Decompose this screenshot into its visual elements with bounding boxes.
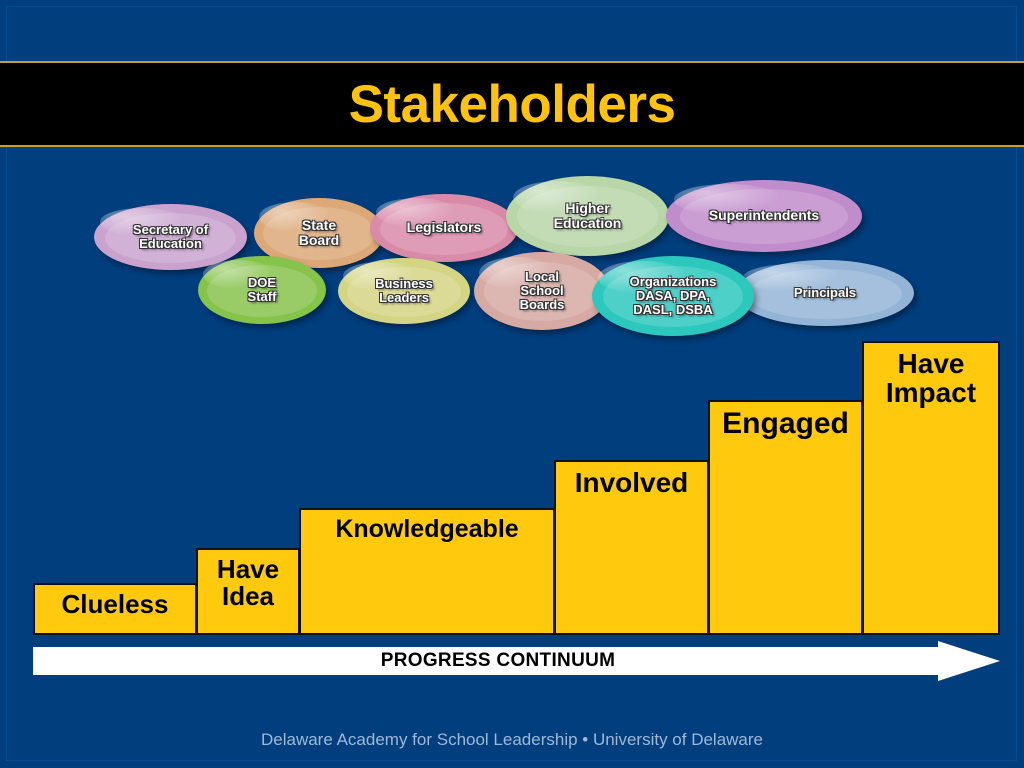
bubble-label: HigherEducation [548,201,628,231]
bubble-label: OrganizationsDASA, DPA,DASL, DSBA [624,275,723,317]
stair-bar-involved[interactable]: Involved [554,460,709,635]
stair-bar-label: HaveImpact [864,343,998,408]
bubble-label: Legislators [401,220,488,235]
bubble-label: Superintendents [703,208,825,223]
stair-bar-have-impact[interactable]: HaveImpact [862,341,1000,635]
stair-bar-knowledgeable[interactable]: Knowledgeable [299,508,555,635]
bubble-label: LocalSchoolBoards [514,270,571,312]
stair-bar-label: Involved [556,462,707,497]
stair-bar-label: Knowledgeable [301,510,553,542]
bubble-label: BusinessLeaders [369,277,439,305]
bubble-label: StateBoard [293,218,345,248]
footer-credit: Delaware Academy for School Leadership •… [0,730,1024,750]
progress-continuum-arrow: PROGRESS CONTINUUM [33,641,1000,681]
progress-continuum-label: PROGRESS CONTINUUM [33,641,963,681]
bubble-label: Principals [788,286,862,300]
bubble-business-leaders[interactable]: BusinessLeaders [338,258,470,324]
bubble-local-school-boards[interactable]: LocalSchoolBoards [474,252,610,330]
stair-bar-label: HaveIdea [198,550,298,611]
bubble-higher-education[interactable]: HigherEducation [506,176,669,256]
stair-bar-label: Clueless [35,585,195,618]
bubble-principals[interactable]: Principals [736,260,914,326]
bubble-organizations[interactable]: OrganizationsDASA, DPA,DASL, DSBA [592,256,754,336]
bubble-label: DOEStaff [242,276,283,304]
stair-bar-have-idea[interactable]: HaveIdea [196,548,300,635]
slide-canvas: Stakeholders Secretary ofEducation State… [0,0,1024,768]
bubble-doe-staff[interactable]: DOEStaff [198,256,326,324]
stair-bar-clueless[interactable]: Clueless [33,583,197,635]
stair-bar-label: Engaged [710,402,861,440]
stair-bar-engaged[interactable]: Engaged [708,400,863,635]
bubble-superintendents[interactable]: Superintendents [666,180,862,252]
bubble-label: Secretary ofEducation [127,223,214,251]
bubble-legislators[interactable]: Legislators [370,194,518,262]
